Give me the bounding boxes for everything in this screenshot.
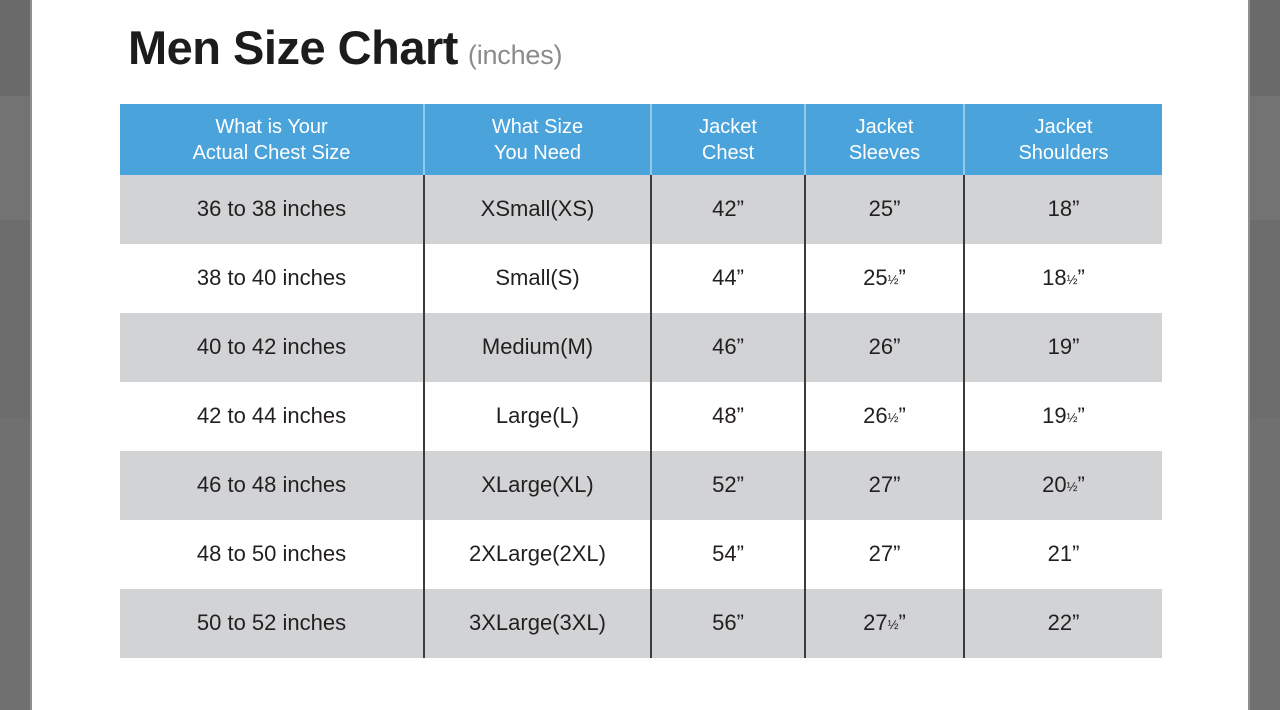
table-row: 42 to 44 inchesLarge(L)48”26½”19½”: [120, 382, 1162, 451]
letterbox-band: [0, 0, 32, 96]
cell-jacket-sleeves: 26½”: [806, 382, 965, 451]
cell-jacket-chest: 56”: [652, 589, 806, 658]
letterbox-edge: [30, 0, 32, 710]
page-title: Men Size Chart (inches): [128, 20, 562, 75]
cell-jacket-sleeves: 27½”: [806, 589, 965, 658]
column-header-line: Sleeves: [849, 140, 920, 166]
cell-jacket-chest: 44”: [652, 244, 806, 313]
column-header-line: Jacket: [856, 114, 914, 140]
column-header-line: Actual Chest Size: [193, 140, 351, 166]
letterbox-band: [0, 220, 32, 418]
column-header-line: You Need: [494, 140, 581, 166]
cell-jacket-sleeves: 25½”: [806, 244, 965, 313]
column-header-size-you-need: What Size You Need: [425, 104, 652, 175]
table-body: 36 to 38 inchesXSmall(XS)42”25”18”38 to …: [120, 175, 1162, 658]
column-header-line: Jacket: [1035, 114, 1093, 140]
cell-jacket-shoulders: 19”: [965, 313, 1162, 382]
cell-jacket-sleeves: 27”: [806, 520, 965, 589]
cell-actual-chest-size: 46 to 48 inches: [120, 451, 425, 520]
column-header-actual-chest-size: What is Your Actual Chest Size: [120, 104, 425, 175]
cell-jacket-sleeves: 26”: [806, 313, 965, 382]
column-header-line: Shoulders: [1018, 140, 1108, 166]
letterbox-band: [0, 418, 32, 710]
cell-jacket-shoulders: 18½”: [965, 244, 1162, 313]
table-row: 46 to 48 inchesXLarge(XL)52”27”20½”: [120, 451, 1162, 520]
table-row: 38 to 40 inchesSmall(S)44”25½”18½”: [120, 244, 1162, 313]
cell-jacket-chest: 46”: [652, 313, 806, 382]
cell-jacket-sleeves: 27”: [806, 451, 965, 520]
cell-jacket-shoulders: 20½”: [965, 451, 1162, 520]
letterbox-band: [1248, 0, 1280, 96]
cell-size-you-need: Small(S): [425, 244, 652, 313]
size-chart-table: What is Your Actual Chest Size What Size…: [120, 104, 1162, 658]
table-row: 40 to 42 inchesMedium(M)46”26”19”: [120, 313, 1162, 382]
cell-size-you-need: 2XLarge(2XL): [425, 520, 652, 589]
column-header-line: What is Your: [215, 114, 327, 140]
cell-size-you-need: XSmall(XS): [425, 175, 652, 244]
cell-jacket-shoulders: 19½”: [965, 382, 1162, 451]
cell-size-you-need: XLarge(XL): [425, 451, 652, 520]
column-header-line: What Size: [492, 114, 583, 140]
page-title-main: Men Size Chart: [128, 20, 458, 75]
letterbox-edge: [1248, 0, 1250, 710]
cell-jacket-chest: 42”: [652, 175, 806, 244]
table-row: 50 to 52 inches3XLarge(3XL)56”27½”22”: [120, 589, 1162, 658]
cell-actual-chest-size: 48 to 50 inches: [120, 520, 425, 589]
cell-actual-chest-size: 40 to 42 inches: [120, 313, 425, 382]
letterbox-band: [1248, 418, 1280, 710]
cell-actual-chest-size: 38 to 40 inches: [120, 244, 425, 313]
cell-jacket-chest: 54”: [652, 520, 806, 589]
cell-size-you-need: Large(L): [425, 382, 652, 451]
letterbox-left: [0, 0, 32, 710]
cell-jacket-shoulders: 22”: [965, 589, 1162, 658]
column-header-line: Jacket: [699, 114, 757, 140]
cell-jacket-sleeves: 25”: [806, 175, 965, 244]
letterbox-band: [0, 96, 32, 220]
cell-jacket-chest: 48”: [652, 382, 806, 451]
letterbox-band: [1248, 96, 1280, 220]
column-header-jacket-sleeves: Jacket Sleeves: [806, 104, 965, 175]
page-title-unit: (inches): [468, 40, 562, 71]
letterbox-band: [1248, 220, 1280, 418]
cell-actual-chest-size: 50 to 52 inches: [120, 589, 425, 658]
cell-actual-chest-size: 36 to 38 inches: [120, 175, 425, 244]
table-header-row: What is Your Actual Chest Size What Size…: [120, 104, 1162, 175]
slide-canvas: Men Size Chart (inches) What is Your Act…: [34, 0, 1248, 710]
size-chart-page: Men Size Chart (inches) What is Your Act…: [0, 0, 1280, 710]
cell-jacket-shoulders: 18”: [965, 175, 1162, 244]
cell-jacket-shoulders: 21”: [965, 520, 1162, 589]
table-row: 36 to 38 inchesXSmall(XS)42”25”18”: [120, 175, 1162, 244]
cell-size-you-need: 3XLarge(3XL): [425, 589, 652, 658]
column-header-line: Chest: [702, 140, 754, 166]
cell-jacket-chest: 52”: [652, 451, 806, 520]
letterbox-right: [1248, 0, 1280, 710]
column-header-jacket-shoulders: Jacket Shoulders: [965, 104, 1162, 175]
cell-actual-chest-size: 42 to 44 inches: [120, 382, 425, 451]
table-row: 48 to 50 inches2XLarge(2XL)54”27”21”: [120, 520, 1162, 589]
column-header-jacket-chest: Jacket Chest: [652, 104, 806, 175]
cell-size-you-need: Medium(M): [425, 313, 652, 382]
